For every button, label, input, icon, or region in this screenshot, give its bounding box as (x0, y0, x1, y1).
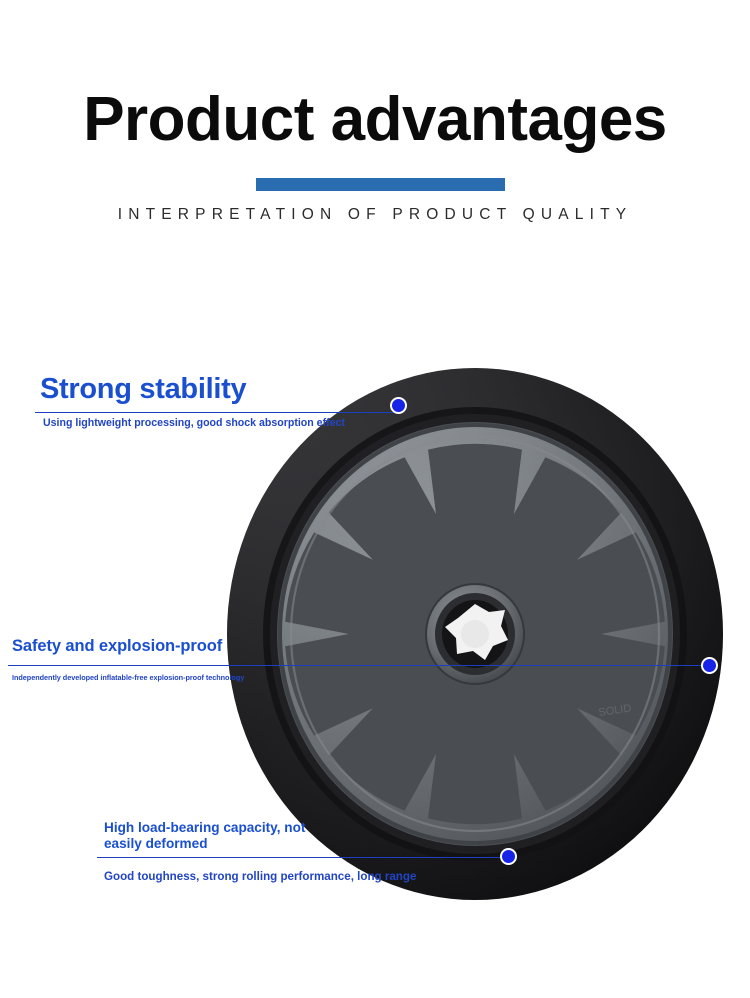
callout-heading: Strong stability (40, 372, 345, 406)
callout-safety-explosion-proof: Safety and explosion-proof Independently… (12, 636, 244, 683)
callout-high-load-bearing: High load-bearing capacity, not easily d… (104, 820, 416, 884)
callout-subtext: Good toughness, strong rolling performan… (104, 869, 416, 884)
infographic-canvas: Product advantages INTERPRETATION OF PRO… (0, 0, 750, 998)
wheel-hub (426, 584, 524, 684)
page-subtitle: INTERPRETATION OF PRODUCT QUALITY (0, 204, 750, 226)
callout-marker-dot-1[interactable] (390, 397, 407, 414)
callout-marker-dot-3[interactable] (500, 848, 517, 865)
callout-subtext: Using lightweight processing, good shock… (43, 416, 345, 430)
page-title: Product advantages (0, 84, 750, 156)
callout-heading: Safety and explosion-proof (12, 636, 244, 656)
callout-strong-stability: Strong stability Using lightweight proce… (40, 372, 345, 430)
title-accent-bar (256, 178, 505, 191)
callout-heading: High load-bearing capacity, not easily d… (104, 820, 319, 852)
callout-marker-dot-2[interactable] (701, 657, 718, 674)
callout-subtext: Independently developed inflatable-free … (12, 672, 244, 683)
